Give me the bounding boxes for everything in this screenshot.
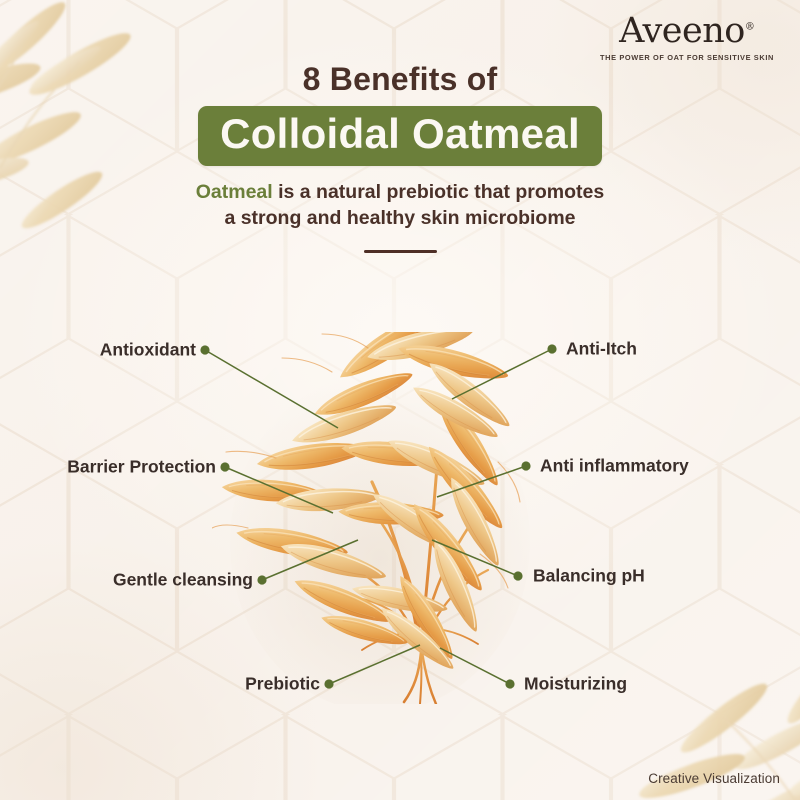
oat-sprig-photo — [212, 332, 542, 704]
connector-line — [225, 467, 333, 513]
connector-dot — [505, 679, 514, 688]
connector-line — [437, 466, 526, 497]
connector-dot — [513, 571, 522, 580]
benefit-label-anti-inflammatory[interactable]: Anti inflammatory — [540, 457, 689, 475]
subtitle-rest-line1: is a natural prebiotic that promotes — [273, 181, 605, 203]
connector-line — [262, 540, 358, 580]
brand-name-text: Aveeno — [619, 11, 745, 51]
benefit-label-gentle-cleansing[interactable]: Gentle cleansing — [113, 571, 253, 589]
connector-line — [205, 350, 338, 428]
headline-block: 8 Benefits of Colloidal Oatmeal Oatmeal … — [0, 62, 800, 253]
connector-dot — [257, 575, 266, 584]
connector-dot — [324, 679, 333, 688]
subtitle: Oatmeal is a natural prebiotic that prom… — [0, 179, 800, 232]
benefit-label-moisturizing[interactable]: Moisturizing — [524, 675, 627, 693]
connector-line — [440, 648, 510, 684]
title-banner-text: Colloidal Oatmeal — [220, 111, 580, 156]
brand-wordmark: Aveeno® — [619, 14, 755, 49]
connector-dot — [220, 462, 229, 471]
infographic-poster: Aveeno® THE POWER OF OAT FOR SENSITIVE S… — [0, 0, 800, 800]
connector-dot — [200, 345, 209, 354]
benefit-label-barrier-protection[interactable]: Barrier Protection — [67, 458, 216, 476]
benefit-label-anti-itch[interactable]: Anti-Itch — [566, 340, 637, 358]
connector-line — [452, 349, 552, 399]
title-banner: Colloidal Oatmeal — [198, 106, 602, 165]
brand-logo: Aveeno® THE POWER OF OAT FOR SENSITIVE S… — [592, 14, 782, 62]
connector-line — [329, 645, 420, 684]
subtitle-line2: a strong and healthy skin microbiome — [224, 207, 575, 229]
connector-line — [432, 540, 518, 576]
benefit-label-antioxidant[interactable]: Antioxidant — [100, 341, 196, 359]
title-divider-rule — [364, 250, 437, 253]
benefit-label-prebiotic[interactable]: Prebiotic — [245, 675, 320, 693]
benefit-label-balancing-ph[interactable]: Balancing pH — [533, 567, 645, 585]
subtitle-highlight-word: Oatmeal — [196, 181, 273, 203]
headline-kicker: 8 Benefits of — [0, 62, 800, 97]
brand-tagline: THE POWER OF OAT FOR SENSITIVE SKIN — [592, 53, 782, 62]
registered-trademark-icon: ® — [745, 21, 755, 32]
footer-credit: Creative Visualization — [648, 771, 780, 786]
connector-dot — [547, 344, 556, 353]
connector-dot — [521, 461, 530, 470]
